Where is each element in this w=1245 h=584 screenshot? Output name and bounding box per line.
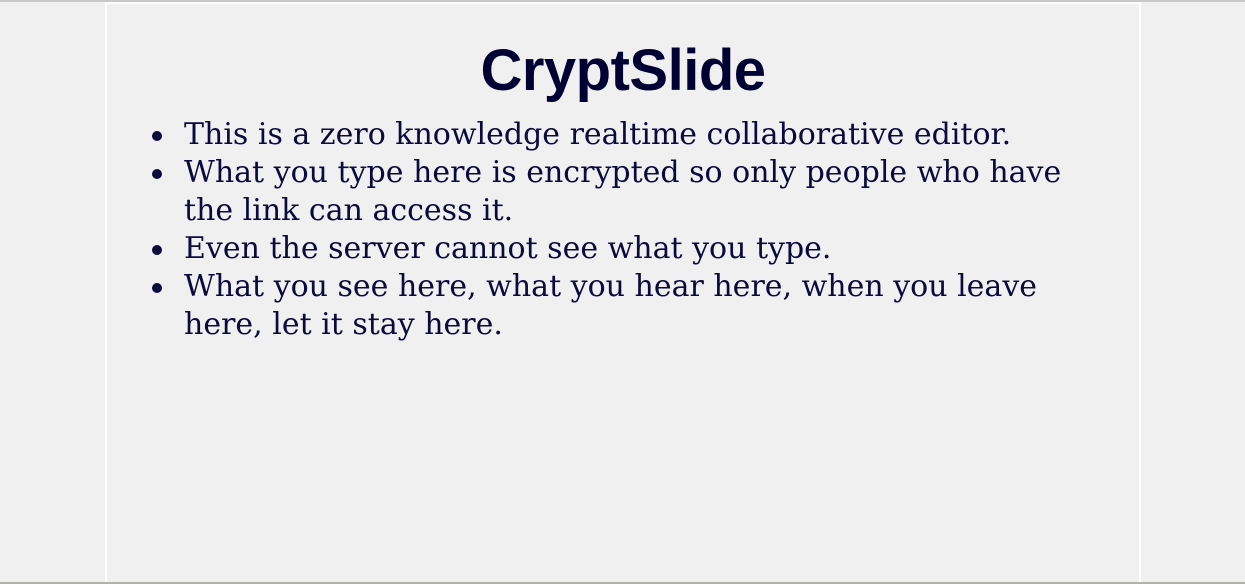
slide-bullet-item[interactable]: Even the server cannot see what you type… [143, 230, 1103, 268]
slide-bullet-item[interactable]: What you type here is encrypted so only … [143, 154, 1103, 230]
slide-bullet-text: Even the server cannot see what you type… [184, 230, 1103, 268]
slide-bullet-text: This is a zero knowledge realtime collab… [184, 116, 1103, 154]
slide-bullet-list: This is a zero knowledge realtime collab… [143, 116, 1103, 344]
slide-bullet-text: What you see here, what you hear here, w… [184, 268, 1103, 344]
slide-bullet-text: What you type here is encrypted so only … [184, 154, 1103, 230]
bullet-dot-icon [152, 245, 162, 255]
bullet-dot-icon [152, 131, 162, 141]
slide-viewer: CryptSlide This is a zero knowledge real… [0, 0, 1245, 584]
slide-bullet-item[interactable]: What you see here, what you hear here, w… [143, 268, 1103, 344]
slide-title: CryptSlide [107, 40, 1139, 102]
bullet-dot-icon [152, 283, 162, 293]
bullet-dot-icon [152, 169, 162, 179]
slide-surface[interactable]: CryptSlide This is a zero knowledge real… [105, 2, 1141, 582]
slide-bullet-item[interactable]: This is a zero knowledge realtime collab… [143, 116, 1103, 154]
